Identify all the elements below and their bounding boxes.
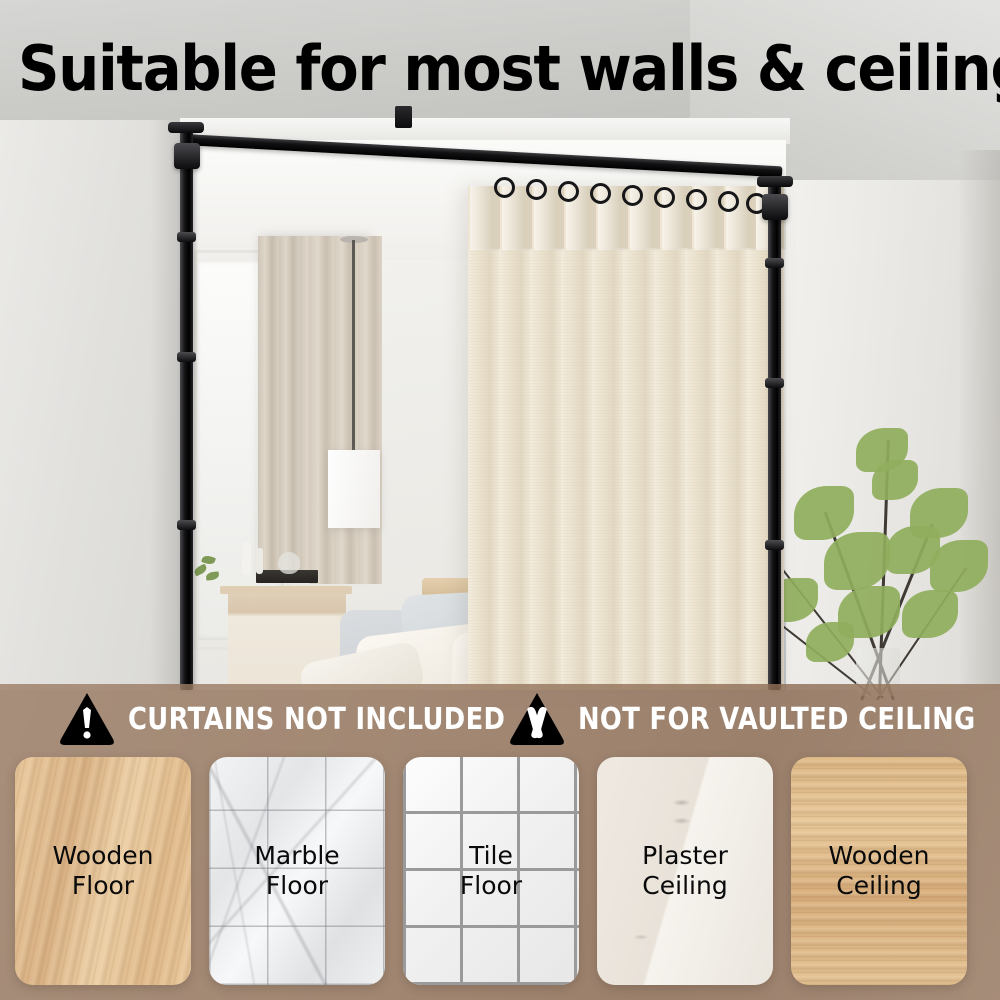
surface-label-line1: Tile — [469, 841, 513, 871]
post-joint — [177, 352, 196, 362]
headline-text: Suitable for most walls & ceilings — [18, 36, 915, 102]
warning-label: NOT FOR VAULTED CEILING — [578, 702, 976, 737]
warning-not-for-vaulted-ceiling: NOT FOR VAULTED CEILING — [508, 690, 1000, 748]
surface-card-wooden-floor: Wooden Floor — [15, 757, 191, 985]
surface-label-line2: Ceiling — [642, 871, 727, 901]
surface-label-line2: Floor — [266, 871, 328, 901]
warning-label: CURTAINS NOT INCLUDED — [128, 702, 505, 737]
surface-label-line2: Floor — [72, 871, 134, 901]
tee-connector-right — [762, 194, 788, 220]
small-vase — [242, 542, 251, 574]
surface-card-label: Wooden Floor — [15, 757, 191, 985]
product-feature-image: Suitable for most walls & ceilings CURTA… — [0, 0, 1000, 1000]
surface-label-line1: Plaster — [642, 841, 728, 871]
post-joint — [765, 378, 784, 388]
bedroom-drape-right — [310, 236, 382, 584]
vertical-post-left — [180, 130, 193, 690]
pendant-rod — [352, 240, 355, 452]
small-plant — [194, 552, 220, 586]
decorative-branch-plant — [760, 400, 1000, 690]
post-joint — [177, 232, 196, 242]
surface-label-line1: Wooden — [53, 841, 154, 871]
surface-label-line1: Wooden — [829, 841, 930, 871]
post-joint — [765, 258, 784, 268]
post-joint — [765, 540, 784, 550]
surface-card-tile-floor: Tile Floor — [403, 757, 579, 985]
ceiling-foot-plate-left — [168, 122, 204, 133]
cream-curtain-panel — [468, 186, 784, 690]
small-vase-2 — [256, 548, 263, 574]
post-joint — [177, 520, 196, 530]
surface-card-marble-floor: Marble Floor — [209, 757, 385, 985]
surface-card-label: Wooden Ceiling — [791, 757, 967, 985]
warning-exclamation-triangle-icon — [58, 690, 116, 748]
pendant-lamp-shade — [328, 450, 380, 528]
surface-card-label: Tile Floor — [403, 757, 579, 985]
tee-connector-left — [174, 143, 200, 169]
surface-card-plaster-ceiling: Plaster Ceiling — [597, 757, 773, 985]
surface-label-line2: Ceiling — [836, 871, 921, 901]
ceiling-foot-plate-right — [757, 176, 793, 187]
surface-card-label: Marble Floor — [209, 757, 385, 985]
nightstand-top — [220, 586, 352, 594]
curtain-fabric-texture — [468, 186, 784, 690]
warning-curtains-not-included: CURTAINS NOT INCLUDED — [58, 690, 567, 748]
surface-card-label: Plaster Ceiling — [597, 757, 773, 985]
warning-cross-triangle-icon — [508, 690, 566, 748]
surface-card-row: Wooden Floor Marble Floor Tile Floor Pla… — [15, 757, 985, 985]
surface-label-line1: Marble — [254, 841, 339, 871]
surface-label-line2: Floor — [460, 871, 522, 901]
surface-card-wooden-ceiling: Wooden Ceiling — [791, 757, 967, 985]
glass-object — [278, 552, 300, 574]
warning-row: CURTAINS NOT INCLUDED NOT FOR VAULTED CE… — [0, 690, 1000, 752]
ceiling-mount-block — [395, 106, 412, 128]
